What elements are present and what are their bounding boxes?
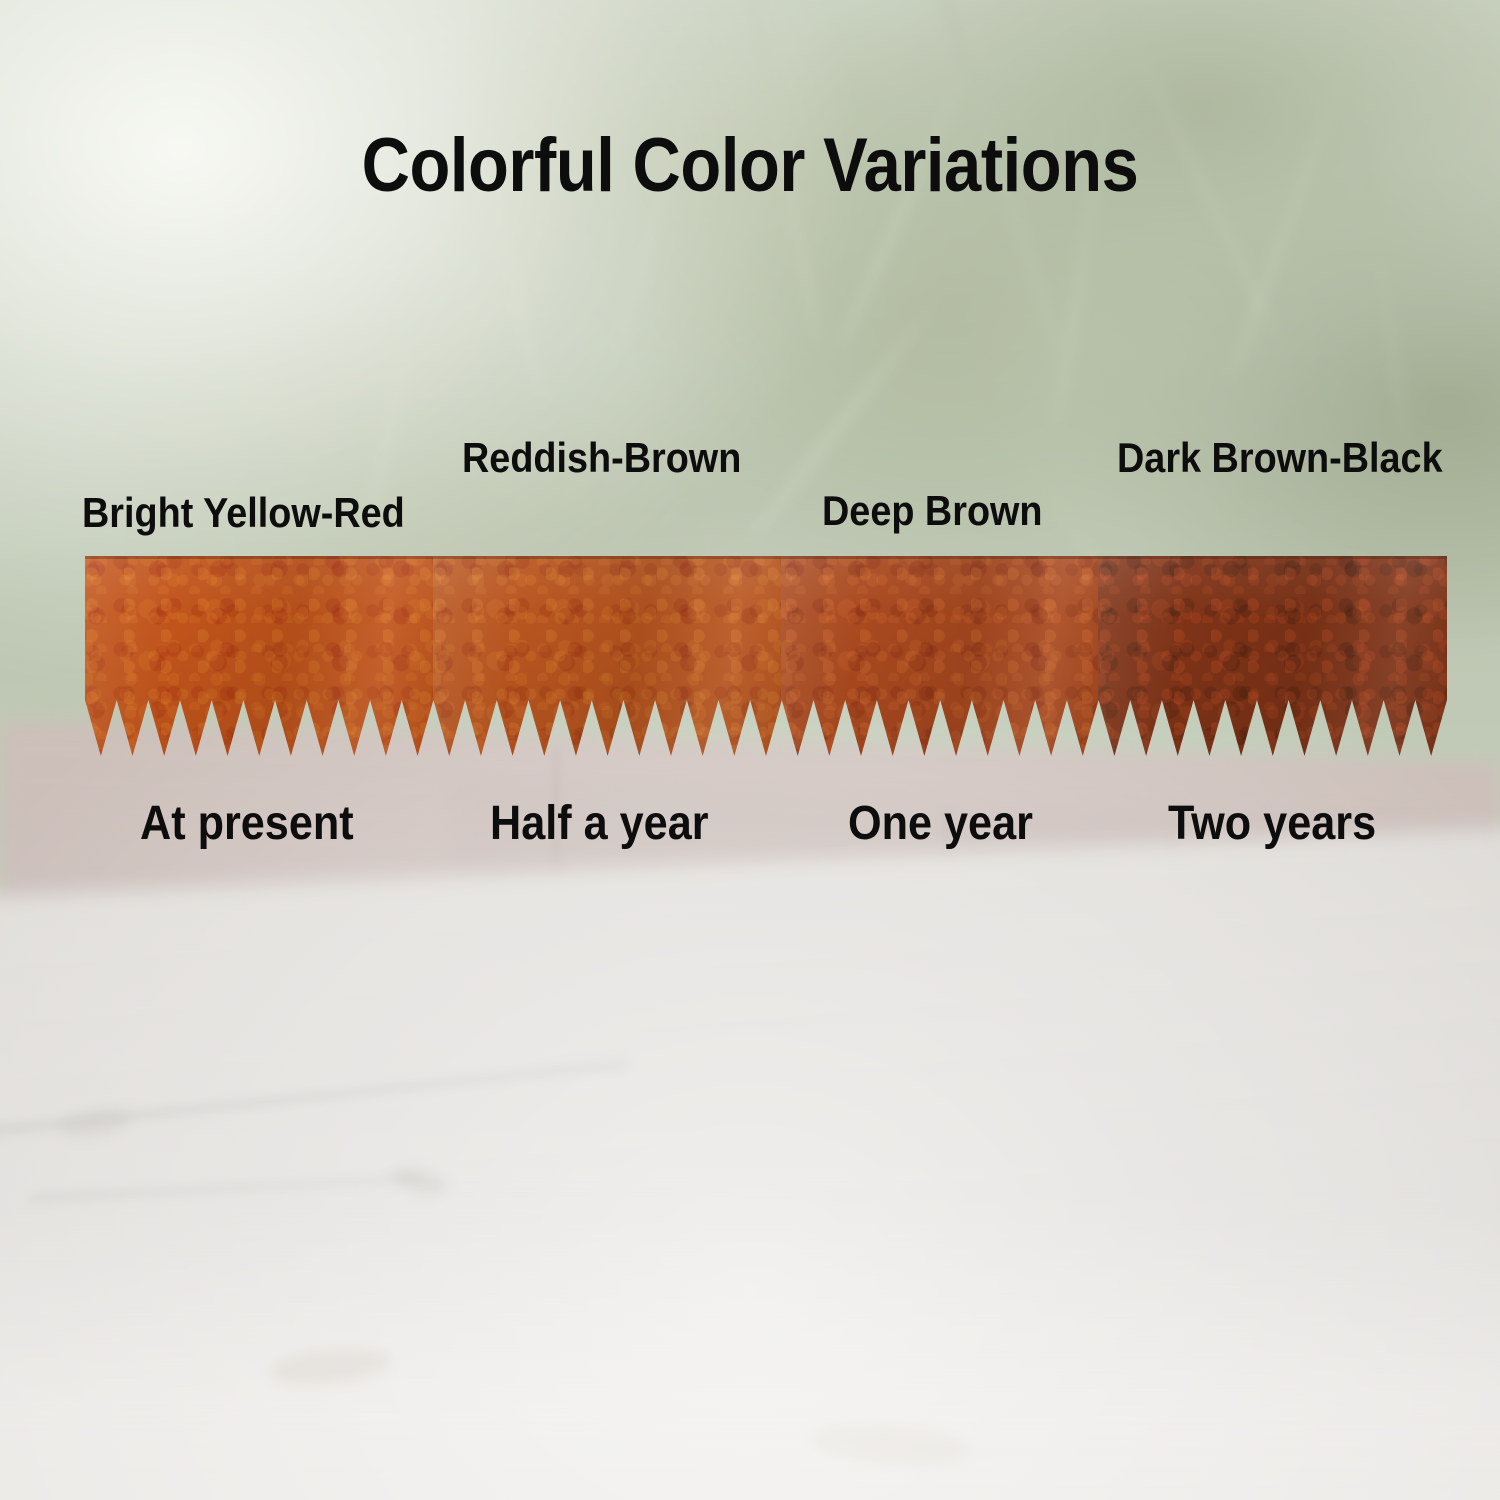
swatch-panels bbox=[85, 556, 1447, 756]
time-label-at-present: At present bbox=[140, 800, 354, 848]
color-label-deep-brown: Deep Brown bbox=[822, 490, 1043, 532]
time-label-two-years: Two years bbox=[1168, 800, 1376, 848]
swatch-panel-one-year[interactable] bbox=[781, 556, 1098, 756]
page-title: Colorful Color Variations bbox=[90, 128, 1410, 204]
swatch-panel-two-years[interactable] bbox=[1098, 556, 1447, 756]
infographic-canvas: Colorful Color Variations Bright Yellow-… bbox=[0, 0, 1500, 1500]
swatch-panel-at-present[interactable] bbox=[85, 556, 433, 756]
infographic-content: Colorful Color Variations Bright Yellow-… bbox=[0, 0, 1500, 1500]
color-label-bright-yellow-red: Bright Yellow-Red bbox=[82, 492, 405, 534]
swatch-panel-half-a-year[interactable] bbox=[433, 556, 781, 756]
color-label-reddish-brown: Reddish-Brown bbox=[462, 437, 741, 479]
time-label-one-year: One year bbox=[848, 800, 1033, 848]
color-label-dark-brown-black: Dark Brown-Black bbox=[1117, 437, 1443, 479]
time-label-half-a-year: Half a year bbox=[490, 800, 709, 848]
weathering-swatch-strip bbox=[85, 556, 1447, 756]
